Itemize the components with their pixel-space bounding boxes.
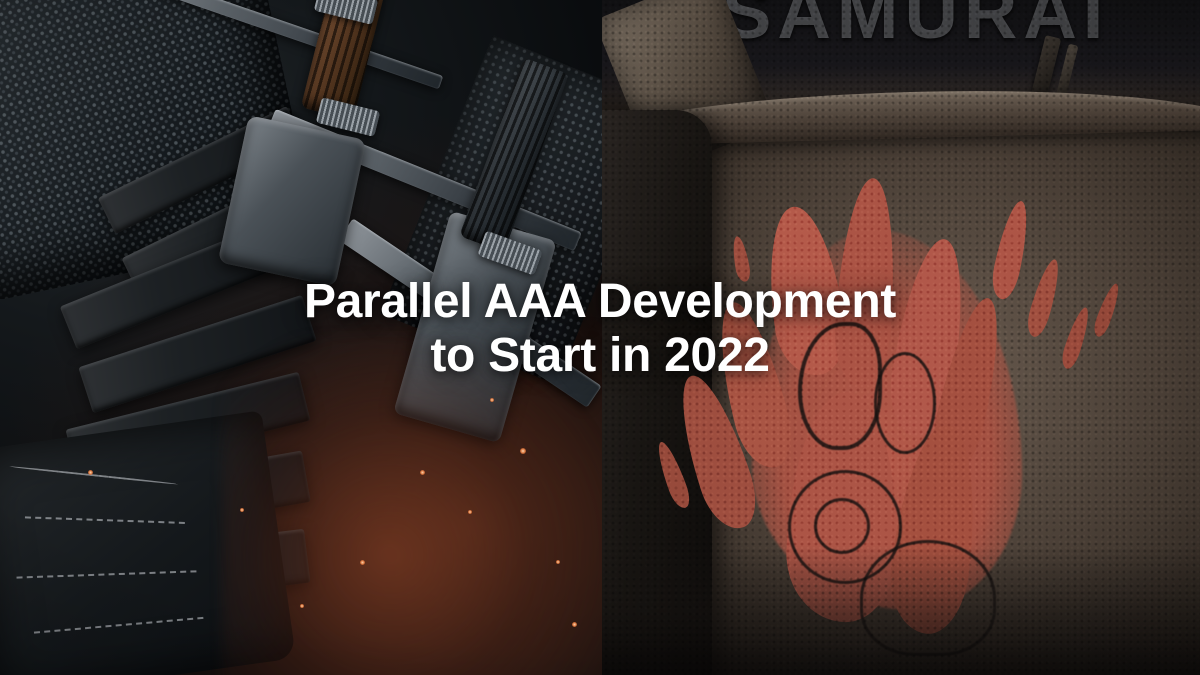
right-panel-cyberpunk-jacket: SAMURAI bbox=[602, 0, 1200, 675]
ember-glow bbox=[222, 335, 602, 675]
banner-stage: SAMURAI Parallel AAA Devel bbox=[0, 0, 1200, 675]
ember-spark bbox=[360, 560, 365, 565]
ember-spark bbox=[420, 470, 425, 475]
leather-grain-texture bbox=[602, 0, 1200, 675]
left-panel-witcher-armour bbox=[0, 0, 602, 675]
ember-spark bbox=[490, 398, 494, 402]
ember-spark bbox=[468, 510, 472, 514]
ember-spark bbox=[88, 470, 93, 475]
ember-spark bbox=[300, 604, 304, 608]
ember-spark bbox=[572, 622, 577, 627]
ember-spark bbox=[520, 448, 526, 454]
ember-spark bbox=[240, 508, 244, 512]
ember-spark bbox=[556, 560, 560, 564]
